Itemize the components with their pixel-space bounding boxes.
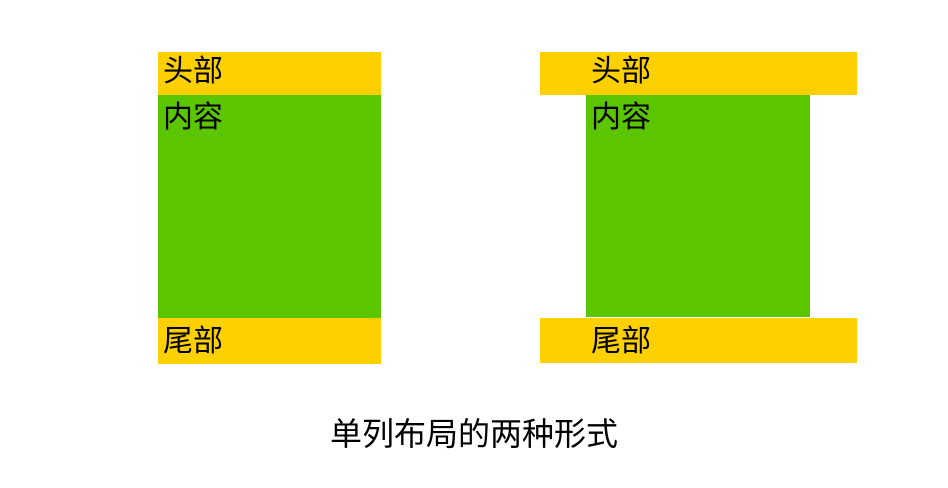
fullbleed-header-label: 头部 xyxy=(591,57,651,87)
fullbleed-header-block: 头部 xyxy=(540,52,857,95)
fullbleed-content-block: 内容 xyxy=(586,95,810,317)
fullbleed-content-label: 内容 xyxy=(591,103,651,133)
fullbleed-footer-label: 尾部 xyxy=(591,327,651,357)
fullbleed-footer-block: 尾部 xyxy=(540,318,857,363)
figure-caption: 单列布局的两种形式 xyxy=(0,418,948,450)
figure-canvas: 头部 内容 尾部 头部 内容 尾部 单列布局的两种形式 xyxy=(0,0,948,488)
uniform-content-block: 内容 xyxy=(158,95,381,318)
uniform-footer-label: 尾部 xyxy=(163,327,223,357)
uniform-header-label: 头部 xyxy=(163,57,223,87)
uniform-header-block: 头部 xyxy=(158,52,381,95)
diagram-uniform-single-column: 头部 内容 尾部 xyxy=(158,52,381,364)
uniform-footer-block: 尾部 xyxy=(158,318,381,364)
uniform-content-label: 内容 xyxy=(163,103,223,133)
diagram-full-bleed-header-footer: 头部 内容 尾部 xyxy=(540,52,857,363)
